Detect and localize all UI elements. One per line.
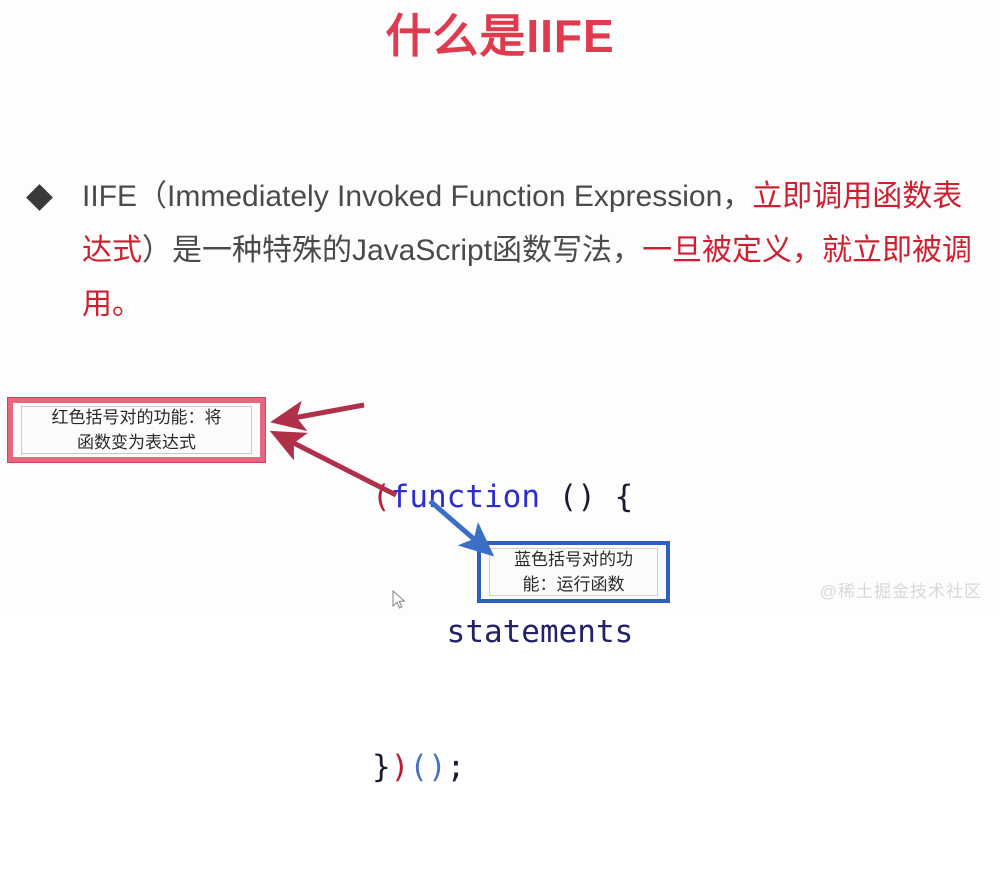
code-token-close-brace: } (372, 749, 391, 785)
code-line-2: statements (372, 610, 633, 655)
callout-blue-inner: 蓝色括号对的功 能：运行函数 (489, 548, 658, 596)
callout-red-parens: 红色括号对的功能：将 函数变为表达式 (8, 398, 265, 462)
code-token-close-paren-red: ) (391, 749, 410, 785)
code-token-function-keyword: function (391, 479, 540, 515)
paragraph-segment-plain-2: ）是一种特殊的JavaScript函数写法， (142, 234, 642, 267)
callout-red-inner: 红色括号对的功能：将 函数变为表达式 (21, 406, 252, 454)
red-arrow-top (277, 405, 364, 421)
watermark: @稀土掘金技术社区 (820, 577, 982, 602)
mouse-cursor-icon (392, 590, 406, 610)
bullet-block: IIFE（Immediately Invoked Function Expres… (28, 170, 980, 332)
slide-canvas: 什么是IIFE IIFE（Immediately Invoked Functio… (0, 0, 1000, 616)
code-token-semicolon: ; (447, 749, 466, 785)
callout-blue-text: 蓝色括号对的功 能：运行函数 (514, 547, 633, 597)
page-title: 什么是IIFE (0, 8, 1000, 66)
code-token-invoke-parens-blue: () (409, 749, 446, 785)
code-line-1: (function () { (372, 475, 633, 520)
code-sample: (function () { statements })(); (372, 385, 633, 880)
callout-blue-parens: 蓝色括号对的功 能：运行函数 (477, 541, 670, 603)
code-token-open-paren-red: ( (372, 479, 391, 515)
paragraph-segment-plain-1: IIFE（Immediately Invoked Function Expres… (82, 180, 752, 213)
callout-red-text: 红色括号对的功能：将 函数变为表达式 (52, 405, 222, 455)
code-line-3: })(); (372, 745, 633, 790)
code-token-statements: statements (372, 614, 633, 650)
code-token-args-and-brace: () { (540, 479, 633, 515)
definition-paragraph: IIFE（Immediately Invoked Function Expres… (82, 170, 980, 332)
diamond-bullet-icon (26, 184, 53, 211)
